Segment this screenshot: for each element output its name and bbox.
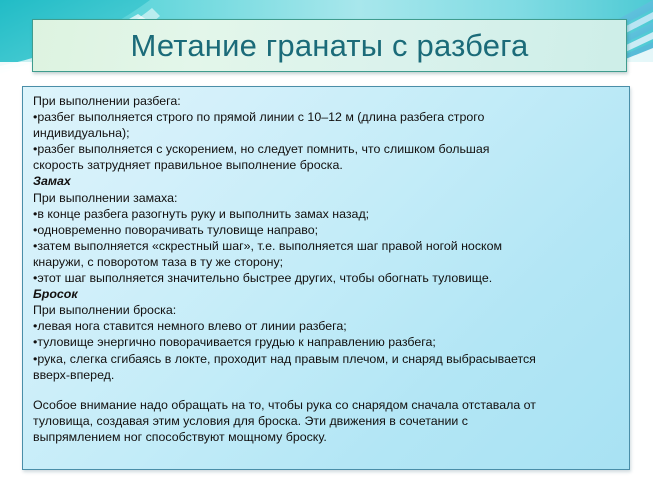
- content-line: •затем выполняется «скрестный шаг», т.е.…: [33, 238, 620, 254]
- content-line: •этот шаг выполняется значительно быстре…: [33, 270, 620, 286]
- content-line: При выполнении броска:: [33, 302, 620, 318]
- section-heading: Бросок: [33, 286, 620, 302]
- content-line: выпрямлением ног способствуют мощному бр…: [33, 429, 620, 445]
- content-line: •разбег выполняется с ускорением, но сле…: [33, 141, 620, 157]
- section-heading: Замах: [33, 173, 620, 189]
- slide-content-box: При выполнении разбега:•разбег выполняет…: [22, 86, 630, 470]
- content-line: •в конце разбега разогнуть руку и выполн…: [33, 206, 620, 222]
- content-line: •левая нога ставится немного влево от ли…: [33, 318, 620, 334]
- content-line: вверх-вперед.: [33, 367, 620, 383]
- content-line: •туловище энергично поворачивается грудь…: [33, 334, 620, 350]
- content-line: При выполнении разбега:: [33, 93, 620, 109]
- content-line: Особое внимание надо обращать на то, что…: [33, 397, 620, 413]
- content-line: туловища, создавая этим условия для брос…: [33, 413, 620, 429]
- content-text-block: При выполнении разбега:•разбег выполняет…: [33, 93, 620, 445]
- content-line: индивидуальна);: [33, 125, 620, 141]
- page-title: Метание гранаты с разбега: [131, 30, 529, 61]
- content-line: скорость затрудняет правильное выполнени…: [33, 157, 620, 173]
- presentation-slide: Метание гранаты с разбега При выполнении…: [0, 0, 653, 490]
- content-line: кнаружи, с поворотом таза в ту же сторон…: [33, 254, 620, 270]
- content-line: При выполнении замаха:: [33, 190, 620, 206]
- content-line: •одновременно поворачивать туловище напр…: [33, 222, 620, 238]
- paragraph-spacer: [33, 383, 620, 397]
- slide-title-box: Метание гранаты с разбега: [32, 19, 627, 72]
- content-line: •рука, слегка сгибаясь в локте, проходит…: [33, 351, 620, 367]
- content-line: •разбег выполняется строго по прямой лин…: [33, 109, 620, 125]
